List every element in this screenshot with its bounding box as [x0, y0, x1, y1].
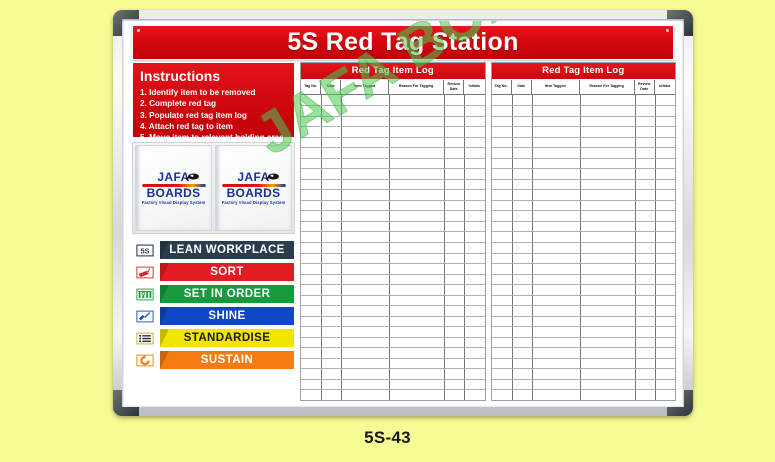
- red-tag-icon: [132, 262, 158, 282]
- column-header: Date: [321, 80, 341, 94]
- row-divider: [492, 137, 676, 138]
- pillar-band-wrap: SORT: [159, 262, 295, 282]
- row-divider: [492, 337, 676, 338]
- row-divider: [492, 158, 676, 159]
- checklist-icon: [132, 328, 158, 348]
- row-divider: [301, 274, 485, 275]
- image-caption: 5S-43: [0, 428, 775, 448]
- row-divider: [301, 337, 485, 338]
- row-divider: [492, 358, 676, 359]
- broom-icon: [132, 306, 158, 326]
- column-divider: [321, 95, 322, 401]
- instruction-step: 3. Populate red tag item log: [140, 110, 288, 121]
- row-divider: [301, 105, 485, 106]
- row-divider: [301, 284, 485, 285]
- five-s-pillar-sort: SORT: [132, 262, 295, 282]
- column-header: Reason For Tagging: [580, 80, 635, 94]
- column-header: Initials: [655, 80, 675, 94]
- row-divider: [301, 147, 485, 148]
- document-pocket[interactable]: JAFA BOARDS Factory Visual Display Syste…: [135, 145, 212, 231]
- logo-line-2: BOARDS: [136, 187, 211, 199]
- column-divider: [341, 95, 342, 401]
- jafa-boards-logo: JAFA BOARDS Factory Visual Display Syste…: [216, 172, 291, 205]
- log-table-title: Red Tag Item Log: [301, 63, 485, 80]
- column-header: Tag No.: [301, 80, 321, 94]
- logo-tagline: Factory Visual Display System: [216, 200, 291, 205]
- pillar-band-wrap: SHINE: [159, 306, 295, 326]
- row-divider: [492, 263, 676, 264]
- row-divider: [301, 158, 485, 159]
- red-tag-item-log-table: Red Tag Item LogTag No.DateItem TaggedRe…: [491, 62, 677, 401]
- pillar-band-wrap: SET IN ORDER: [159, 284, 295, 304]
- row-divider: [492, 305, 676, 306]
- pin-top-right: [666, 29, 669, 32]
- left-panel: Instructions 1. Identify item to be remo…: [132, 62, 295, 401]
- row-divider: [492, 274, 676, 275]
- row-divider: [492, 221, 676, 222]
- column-divider: [635, 95, 636, 401]
- pin-top-left: [137, 29, 140, 32]
- five-s-pillar-set-in-order: SET IN ORDER: [132, 284, 295, 304]
- column-divider: [444, 95, 445, 401]
- pillar-label: SORT: [159, 262, 295, 282]
- document-pocket-tray: JAFA BOARDS Factory Visual Display Syste…: [132, 142, 295, 234]
- row-divider: [301, 347, 485, 348]
- logo-swoosh-icon: [185, 172, 199, 181]
- column-divider: [464, 95, 465, 401]
- row-divider: [492, 105, 676, 106]
- five-s-badge-icon: 5S: [132, 240, 158, 260]
- log-body-grid[interactable]: [301, 95, 485, 401]
- row-divider: [492, 284, 676, 285]
- column-header: Initials: [464, 80, 484, 94]
- log-table-title: Red Tag Item Log: [492, 63, 676, 80]
- row-divider: [492, 295, 676, 296]
- column-divider: [532, 95, 533, 401]
- pillar-label: SUSTAIN: [159, 350, 295, 370]
- row-divider: [301, 253, 485, 254]
- column-header: Review Date: [635, 80, 655, 94]
- pillar-label: SET IN ORDER: [159, 284, 295, 304]
- pillar-label: LEAN WORKPLACE: [159, 240, 295, 260]
- page-title: 5S Red Tag Station: [287, 28, 518, 57]
- column-header: Tag No.: [492, 80, 512, 94]
- row-divider: [301, 316, 485, 317]
- row-divider: [492, 326, 676, 327]
- row-divider: [301, 189, 485, 190]
- logo-line-1: JAFA: [216, 172, 291, 183]
- pillar-band-wrap: STANDARDISE: [159, 328, 295, 348]
- log-body-grid[interactable]: [492, 95, 676, 401]
- row-divider: [301, 242, 485, 243]
- row-divider: [492, 231, 676, 232]
- pillar-band-wrap: SUSTAIN: [159, 350, 295, 370]
- row-divider: [492, 253, 676, 254]
- row-divider: [492, 379, 676, 380]
- column-divider: [580, 95, 581, 401]
- row-divider: [492, 189, 676, 190]
- row-divider: [301, 326, 485, 327]
- column-header: Item Tagged: [532, 80, 580, 94]
- pillar-label: STANDARDISE: [159, 328, 295, 348]
- row-divider: [301, 168, 485, 169]
- tool-rack-icon: [132, 284, 158, 304]
- row-divider: [492, 368, 676, 369]
- instruction-step: 1. Identify item to be removed: [140, 87, 288, 98]
- row-divider: [492, 147, 676, 148]
- instruction-step: 4. Attach red tag to item: [140, 121, 288, 132]
- svg-text:5S: 5S: [141, 246, 150, 255]
- five-s-pillar-lean-workplace: 5SLEAN WORKPLACE: [132, 240, 295, 260]
- pillar-band-wrap: LEAN WORKPLACE: [159, 240, 295, 260]
- column-header: Review Date: [444, 80, 464, 94]
- five-s-pillar-shine: SHINE: [132, 306, 295, 326]
- instructions-list: 1. Identify item to be removed 2. Comple…: [140, 87, 288, 143]
- row-divider: [301, 368, 485, 369]
- board-title-bar: 5S Red Tag Station: [132, 25, 674, 60]
- row-divider: [301, 389, 485, 390]
- row-divider: [492, 200, 676, 201]
- board-surface: 5S Red Tag Station Instructions 1. Ident…: [124, 21, 682, 405]
- row-divider: [301, 263, 485, 264]
- row-divider: [301, 200, 485, 201]
- pillar-label: SHINE: [159, 306, 295, 326]
- document-pocket[interactable]: JAFA BOARDS Factory Visual Display Syste…: [215, 145, 292, 231]
- column-header: Item Tagged: [341, 80, 389, 94]
- five-s-pillar-list: 5SLEAN WORKPLACESORTSET IN ORDERSHINESTA…: [132, 240, 295, 372]
- whiteboard: 5S Red Tag Station Instructions 1. Ident…: [113, 10, 693, 416]
- logo-tagline: Factory Visual Display System: [136, 200, 211, 205]
- row-divider: [301, 210, 485, 211]
- logo-line-1: JAFA: [136, 172, 211, 183]
- row-divider: [301, 295, 485, 296]
- row-divider: [492, 316, 676, 317]
- row-divider: [301, 126, 485, 127]
- row-divider: [492, 179, 676, 180]
- logo-swoosh-icon: [265, 172, 279, 181]
- row-divider: [301, 231, 485, 232]
- row-divider: [301, 116, 485, 117]
- row-divider: [492, 389, 676, 390]
- log-header-row: Tag No.DateItem TaggedReason For Tagging…: [301, 80, 485, 95]
- logo-line-2: BOARDS: [216, 187, 291, 199]
- red-tag-item-log-table: Red Tag Item LogTag No.DateItem TaggedRe…: [300, 62, 486, 401]
- column-header: Date: [512, 80, 532, 94]
- jafa-boards-logo: JAFA BOARDS Factory Visual Display Syste…: [136, 172, 211, 205]
- row-divider: [492, 210, 676, 211]
- column-divider: [389, 95, 390, 401]
- row-divider: [492, 347, 676, 348]
- row-divider: [301, 221, 485, 222]
- five-s-pillar-sustain: SUSTAIN: [132, 350, 295, 370]
- row-divider: [301, 179, 485, 180]
- red-tag-log-area: Red Tag Item LogTag No.DateItem TaggedRe…: [300, 62, 676, 401]
- row-divider: [301, 379, 485, 380]
- cycle-arrow-icon: [132, 350, 158, 370]
- instructions-heading: Instructions: [140, 68, 288, 84]
- row-divider: [492, 126, 676, 127]
- column-divider: [512, 95, 513, 401]
- row-divider: [301, 137, 485, 138]
- five-s-pillar-standardise: STANDARDISE: [132, 328, 295, 348]
- instructions-panel: Instructions 1. Identify item to be remo…: [132, 62, 295, 138]
- row-divider: [492, 116, 676, 117]
- instruction-step: 2. Complete red tag: [140, 98, 288, 109]
- row-divider: [301, 305, 485, 306]
- log-header-row: Tag No.DateItem TaggedReason For Tagging…: [492, 80, 676, 95]
- row-divider: [492, 242, 676, 243]
- column-divider: [655, 95, 656, 401]
- row-divider: [301, 358, 485, 359]
- column-header: Reason For Tagging: [389, 80, 444, 94]
- row-divider: [492, 168, 676, 169]
